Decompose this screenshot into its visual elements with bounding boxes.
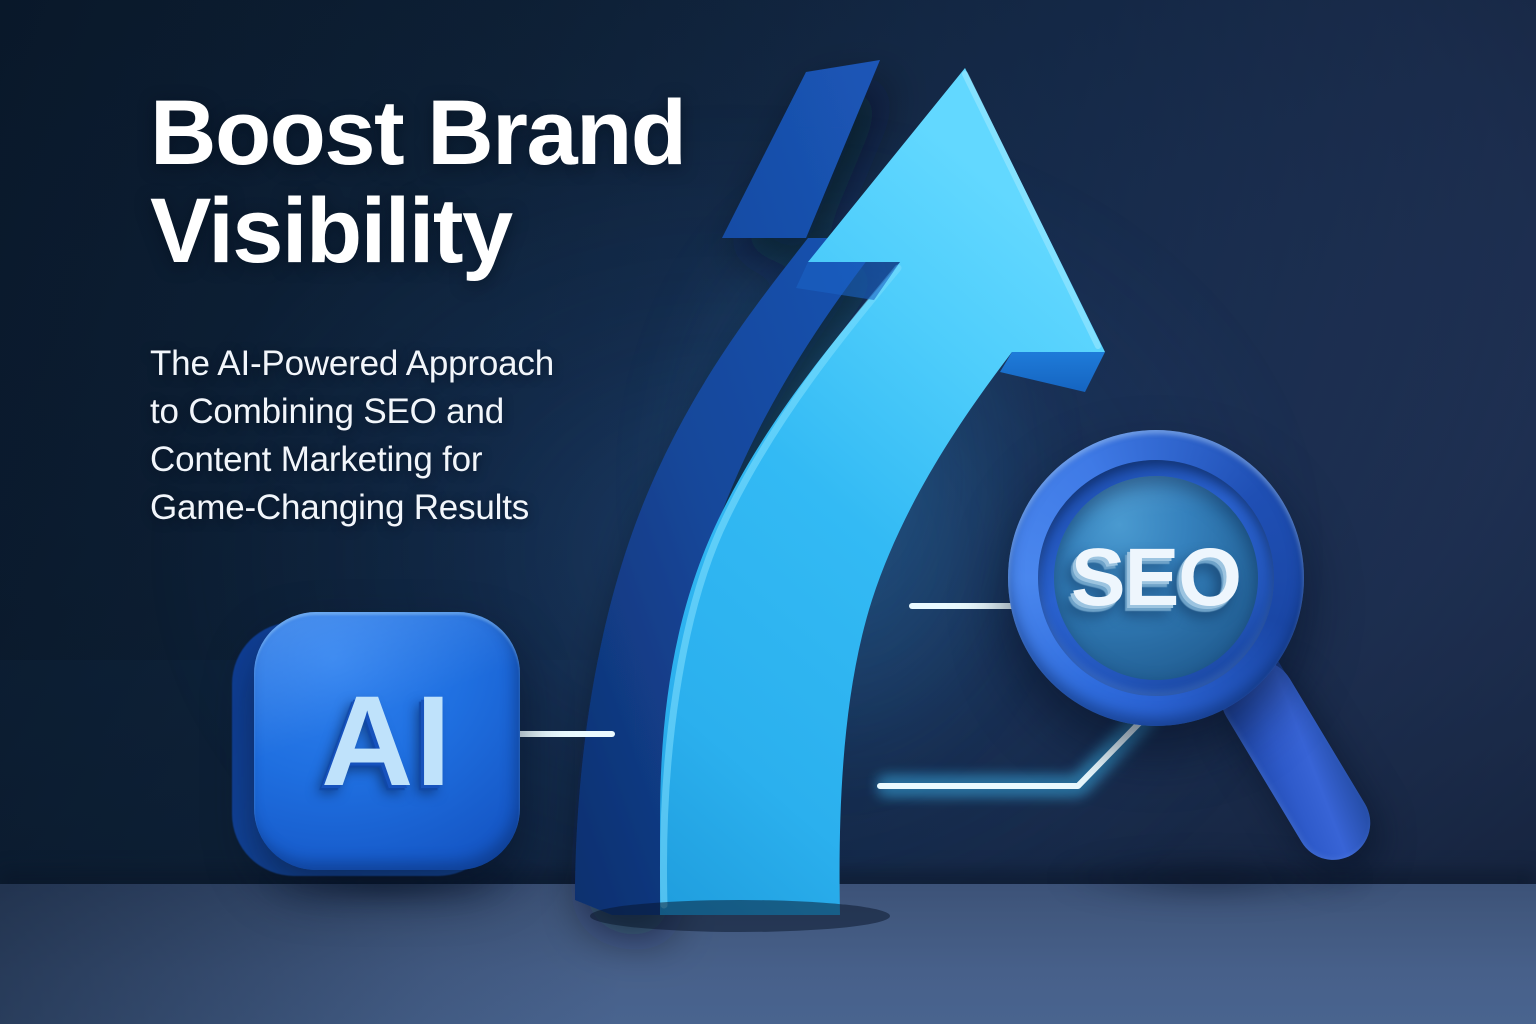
- ai-badge-label: AI: [254, 612, 520, 870]
- magnifier-lens: SEO: [1054, 476, 1258, 680]
- page-title: Boost Brand Visibility: [150, 84, 850, 280]
- magnifier-ring: SEO: [1008, 430, 1304, 726]
- page-subtitle: The AI-Powered Approach to Combining SEO…: [150, 340, 770, 532]
- magnifying-glass-icon[interactable]: SEO: [1006, 428, 1406, 848]
- poster-canvas: AI SEO Boost Brand Visibility The AI-Pow…: [0, 0, 1536, 1024]
- seo-label: SEO: [1071, 531, 1241, 625]
- ai-chip-badge-icon[interactable]: AI: [232, 612, 520, 880]
